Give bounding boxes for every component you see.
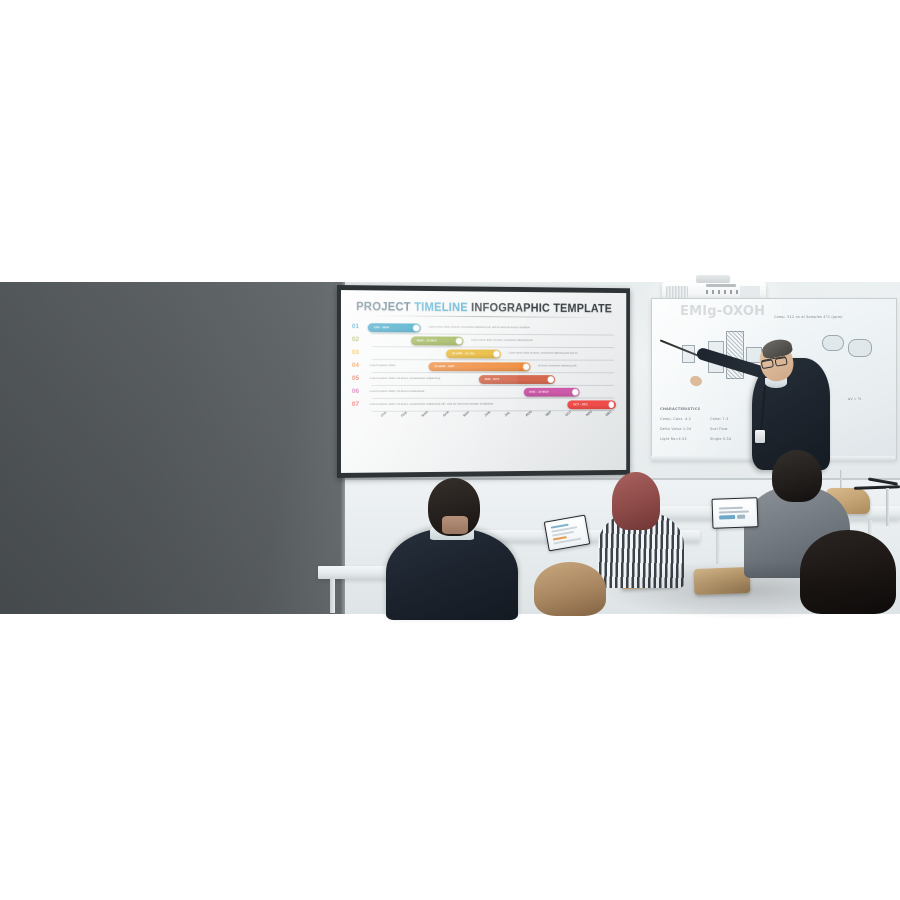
audience-member-neck [442,516,468,534]
timeline-row-track: Lorem ipsum dolor sit amet, consectetur … [368,373,616,386]
whiteboard-scribble: ∆V ≈ ½ [848,397,861,401]
timeline-row-track: Lorem ipsum dolor sit amet consecteturAU… [368,386,616,399]
timeline-row-number: 06 [352,389,368,396]
screenshot-canvas: EMIg-OXOH Comp. 512 ns of Samples 4°C (p… [0,0,900,900]
timeline-bar-endpoint[interactable] [608,401,614,407]
boom-post [886,488,889,526]
name-badge [755,430,765,443]
timeline-row-note: Lorem ipsum dolor sit amet, consectetur … [429,325,530,329]
timeline-bar-label: JAN - MAR [374,326,390,330]
timeline-row-label: Lorem ipsum dolor [370,364,396,368]
laptop-screen [715,500,756,525]
laptop-device[interactable] [711,497,758,529]
timeline-bar-label: 15 MAR - SEP [434,364,454,368]
timeline-bar[interactable]: JUN - OCT [479,375,556,384]
boom-post [840,470,842,488]
timeline-row-note: Lorem ipsum dolor sit amet, consectetur … [471,338,532,341]
timeline-row-note: sit amet consectetur adipiscing elit [538,364,576,367]
slide-title-divider [365,315,603,318]
whiteboard-note-line: Comp. Cons. 4.2 [660,417,691,421]
timeline-row-number: 03 [352,350,368,357]
slide-title-project: PROJECT [356,301,411,313]
timeline-row-number: 05 [352,376,368,382]
timeline-row-number: 04 [352,363,368,370]
dark-wall [0,282,345,614]
timeline-row-label: Lorem ipsum dolor sit amet, consectetur … [370,377,441,381]
timeline-bar[interactable]: MAR - 15 MAY [411,336,464,346]
timeline-bar[interactable]: JAN - MAR [368,323,421,333]
timeline-bar-label: JUN - OCT [485,377,500,381]
whiteboard-note-line: Coher 7.3 [710,417,728,421]
whiteboard-note-line: Light Ra=4.52 [660,437,687,441]
projector-buttons [706,290,742,294]
whiteboard-note-top: Comp. 512 ns of Samples 4°C (ppm) [774,315,843,319]
timeline-row: 02MAR - 15 MAYLorem ipsum dolor sit amet… [352,334,616,348]
timeline-bar-endpoint[interactable] [493,351,499,357]
projection-screen-surface: PROJECT TIMELINE INFOGRAPHIC TEMPLATE 01… [341,290,626,473]
timeline-slide: PROJECT TIMELINE INFOGRAPHIC TEMPLATE 01… [341,290,626,473]
timeline-row: 0315 APR - 15 JULLorem ipsum dolor sit a… [352,347,616,361]
audience-member-head [534,562,606,616]
whiteboard-note-line: Scal Flow [710,427,728,431]
projector-vent [666,286,688,298]
timeline-bar-endpoint[interactable] [548,376,554,382]
audience-member-head [772,450,822,502]
wooden-chair [694,567,751,595]
timeline-row-number: 02 [352,337,368,344]
slide-title-rest: INFOGRAPHIC TEMPLATE [471,302,612,315]
timeline-row-track: MAR - 15 MAYLorem ipsum dolor sit amet, … [368,334,616,348]
timeline-bar[interactable]: 15 MAR - SEP [429,362,531,371]
timeline-bar-endpoint[interactable] [523,363,529,369]
timeline-bar[interactable]: OCT - DEC [568,400,616,409]
laptop-ui-bar [719,515,735,520]
timeline-row-label: Lorem ipsum dolor sit amet, consectetur … [370,402,493,406]
timeline-row-label: Lorem ipsum dolor sit amet consectetur [370,389,425,393]
laptop-ui-bar [737,515,745,519]
timeline-row-note: Lorem ipsum dolor sit amet, consectetur … [509,351,578,354]
timeline-bar-label: OCT - DEC [573,403,588,407]
timeline-row-track: Lorem ipsum dolor15 MAR - SEPsit amet co… [368,360,616,373]
whiteboard-formula-ellipse [848,339,872,357]
timeline-bar-endpoint[interactable] [572,389,578,395]
laptop-ui-bar [719,511,749,514]
timeline-bar-label: MAR - 15 MAY [417,339,437,343]
whiteboard-formula-ellipse [822,335,844,351]
timeline-row: 06Lorem ipsum dolor sit amet consectetur… [352,386,616,399]
tablet-screen [547,518,587,548]
slide-title: PROJECT TIMELINE INFOGRAPHIC TEMPLATE [352,301,616,315]
timeline-row-track: 15 APR - 15 JULLorem ipsum dolor sit ame… [368,347,616,361]
projector-lens-plate [740,286,760,298]
timeline-row: 07Lorem ipsum dolor sit amet, consectetu… [352,398,616,412]
whiteboard-note-line: CHARACTERISTICS [660,407,700,411]
timeline-bar[interactable]: 15 APR - 15 JUL [446,349,501,358]
timeline-row-number: 01 [352,324,368,331]
laptop-ui-bar [719,507,743,509]
timeline-bar-label: AUG - 15 NOV [529,390,549,394]
projection-screen: PROJECT TIMELINE INFOGRAPHIC TEMPLATE 01… [337,285,630,478]
audience-member-headscarf [612,472,660,530]
month-tick-label: JUL [504,410,511,417]
timeline-row: 05Lorem ipsum dolor sit amet, consectetu… [352,373,616,386]
audience-member-head [800,530,896,614]
desk-leg [330,579,335,613]
timeline-bar[interactable]: AUG - 15 NOV [523,387,579,396]
whiteboard-note-line: Single 0.54 [710,437,731,441]
projector-mount [696,275,730,283]
whiteboard-heading: EMIg-OXOH [680,304,765,319]
timeline-bar-label: 15 APR - 15 JUL [452,352,475,356]
slide-title-timeline: TIMELINE [414,302,468,314]
timeline-month-axis: JANFEBMARAPRMAYJUNJULAUGSEPOCTNOVDEC [370,412,616,439]
timeline-bar-endpoint[interactable] [413,324,419,331]
whiteboard-note-line: Delta Value 1.04 [660,427,691,431]
timeline-row: 04Lorem ipsum dolor15 MAR - SEPsit amet … [352,360,616,373]
audience-member-body [386,528,518,620]
projector-top-strip [706,284,736,287]
timeline-row-number: 07 [352,402,368,409]
timeline-bar-endpoint[interactable] [456,338,462,345]
timeline-rows: 01JAN - MARLorem ipsum dolor sit amet, c… [352,321,616,412]
